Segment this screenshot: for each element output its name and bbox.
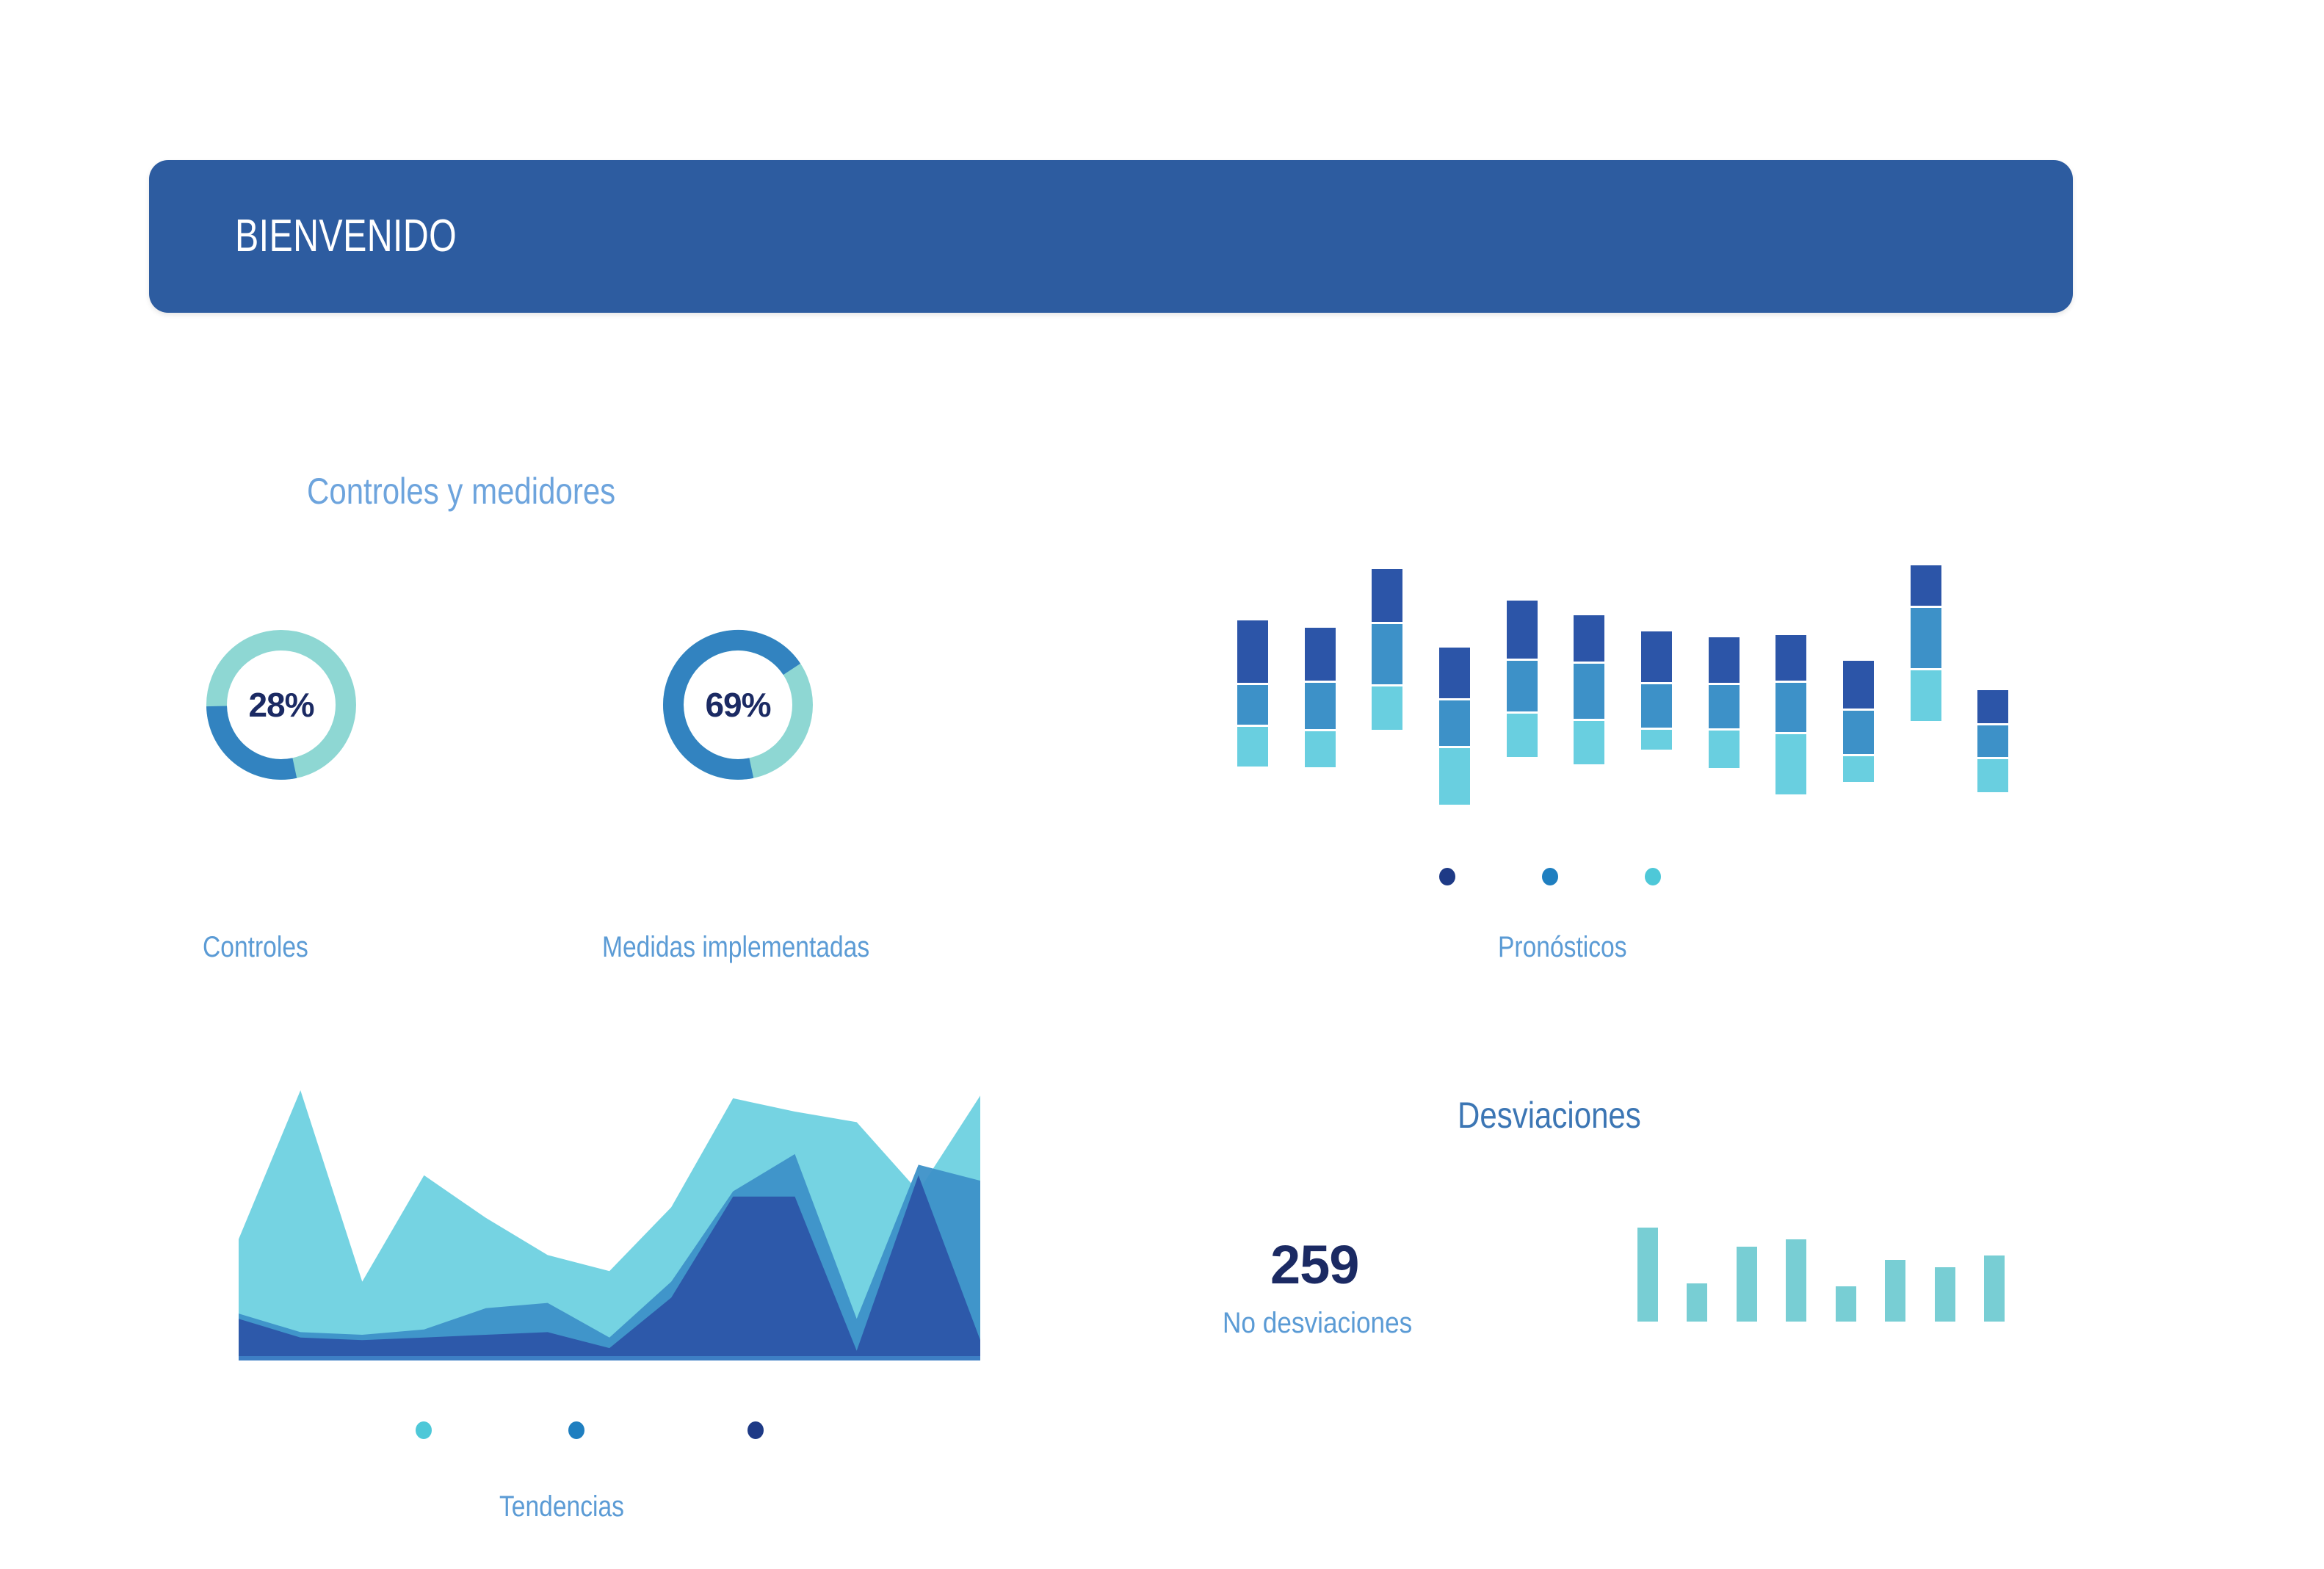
bar-segment-low [1574,721,1604,764]
bar-segment-top [1641,631,1672,682]
bar-segment-top [1237,620,1268,683]
gauge-caption-controles: Controles [203,931,308,964]
forecast-bar[interactable] [1439,648,1470,807]
deviation-bar[interactable] [1737,1247,1757,1322]
forecast-bar[interactable] [1709,637,1740,770]
bar-segment-mid [1911,608,1941,668]
deviation-bar[interactable] [1836,1286,1856,1322]
bar-segment-top [1372,569,1402,622]
gauge-caption-medidas: Medidas implementadas [602,931,869,964]
legend-dot-serie-media[interactable] [568,1421,584,1439]
bar-segment-low [1977,759,2008,792]
forecast-caption: Pronósticos [1498,931,1627,964]
controls-section-title: Controles y medidores [307,470,615,512]
bar-segment-top [1709,637,1740,683]
legend-dot-serie-media[interactable] [1542,868,1558,885]
trends-legend [416,1421,783,1443]
bar-segment-low [1641,730,1672,750]
forecast-bar[interactable] [1843,661,1874,784]
deviations-bar-chart[interactable] [1623,1226,2019,1322]
bar-segment-top [1843,661,1874,709]
deviation-bar[interactable] [1984,1255,2005,1322]
trends-area-svg [239,1090,980,1360]
bar-segment-top [1977,690,2008,723]
gauge-value-medidas: 69% [661,628,815,782]
bar-segment-low [1305,731,1336,767]
deviations-section-title: Desviaciones [1458,1094,1641,1137]
forecast-bar-chart[interactable] [1219,558,2027,793]
legend-dot-serie-clara[interactable] [1645,868,1661,885]
bar-segment-low [1439,748,1470,805]
bar-segment-mid [1709,685,1740,728]
forecast-bar[interactable] [1237,620,1268,769]
forecast-bar[interactable] [1641,631,1672,752]
bar-segment-low [1775,734,1806,794]
bar-segment-top [1911,565,1941,606]
page-title: BIENVENIDO [235,210,457,262]
trends-caption: Tendencias [499,1490,624,1523]
bar-segment-top [1439,648,1470,698]
forecast-bar[interactable] [1574,615,1604,767]
forecast-bar[interactable] [1911,565,1941,723]
bar-segment-mid [1439,700,1470,746]
deviation-bar[interactable] [1786,1239,1806,1322]
forecast-bar[interactable] [1507,601,1538,759]
trends-baseline [239,1356,980,1360]
bar-segment-low [1709,731,1740,768]
bar-segment-low [1237,727,1268,767]
legend-dot-serie-oscura[interactable] [747,1421,764,1439]
bar-segment-mid [1305,683,1336,729]
forecast-bar[interactable] [1305,628,1336,769]
bar-segment-mid [1574,664,1604,719]
forecast-bar[interactable] [1372,569,1402,732]
forecast-legend [1439,868,1659,890]
bar-segment-top [1507,601,1538,659]
bar-segment-mid [1641,684,1672,728]
bar-segment-mid [1977,725,2008,757]
bar-segment-mid [1237,685,1268,725]
deviation-bar[interactable] [1687,1283,1707,1322]
bar-segment-top [1574,615,1604,662]
bar-segment-low [1911,670,1941,721]
forecast-bar[interactable] [1977,690,2008,794]
kpi-label: No desviaciones [1223,1307,1412,1340]
legend-dot-serie-clara[interactable] [416,1421,432,1439]
bar-segment-top [1305,628,1336,681]
gauge-value-controles: 28% [204,628,358,782]
bar-segment-low [1372,686,1402,730]
forecast-bar[interactable] [1775,635,1806,797]
gauge-medidas-implementadas[interactable]: 69% [661,628,815,782]
gauge-controles[interactable]: 28% [204,628,358,782]
bar-segment-mid [1843,711,1874,754]
kpi-value: 259 [1270,1233,1358,1296]
deviation-bar[interactable] [1935,1267,1955,1322]
bar-segment-low [1843,756,1874,782]
bar-segment-top [1775,635,1806,681]
legend-dot-serie-oscura[interactable] [1439,868,1455,885]
deviation-bar[interactable] [1885,1260,1905,1322]
bar-segment-low [1507,714,1538,757]
bar-segment-mid [1507,661,1538,711]
deviation-bar[interactable] [1637,1228,1658,1322]
bar-segment-mid [1372,624,1402,684]
trends-area-chart[interactable] [239,1090,980,1360]
bar-segment-mid [1775,683,1806,732]
